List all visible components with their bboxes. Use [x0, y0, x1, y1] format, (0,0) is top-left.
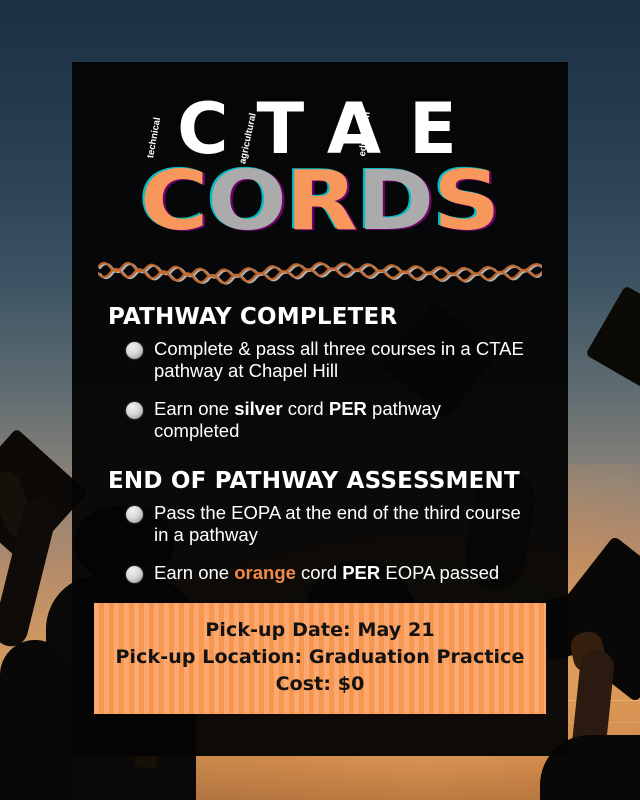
pickup-date-line: Pick-up Date: May 21	[104, 617, 536, 644]
cords-wordmark: CORDS	[140, 164, 499, 240]
bullet-text-post: EOPA passed	[380, 562, 499, 583]
bullet-emphasis-per: PER	[342, 562, 380, 583]
cord-divider-graphic	[98, 256, 542, 290]
cords-letter-c: C	[140, 164, 207, 240]
bullet-emphasis-silver: silver	[234, 398, 282, 419]
poster-title-block: CTAE career technical agricultural educa…	[72, 90, 568, 250]
pickup-info-box: Pick-up Date: May 21 Pick-up Location: G…	[94, 603, 546, 714]
pickup-location-line: Pick-up Location: Graduation Practice	[104, 644, 536, 671]
cords-letter-o: O	[208, 164, 286, 240]
cords-letter-d: D	[357, 164, 433, 240]
bullet-dot-icon	[126, 342, 143, 359]
list-item: Complete & pass all three courses in a C…	[126, 338, 542, 382]
bullet-text: Pass the EOPA at the end of the third co…	[154, 502, 526, 546]
list-item: Earn one orange cord PER EOPA passed	[126, 562, 542, 584]
cost-line: Cost: $0	[104, 671, 536, 698]
bullet-text: Earn one silver cord PER pathway complet…	[154, 398, 526, 442]
cords-letter-s: S	[433, 164, 499, 240]
bullet-text: Earn one orange cord PER EOPA passed	[154, 562, 499, 584]
poster-content: PATHWAY COMPLETER Complete & pass all th…	[72, 304, 568, 584]
bullet-emphasis-per: PER	[329, 398, 367, 419]
bullet-dot-icon	[126, 506, 143, 523]
graduate-body-silhouette	[0, 640, 70, 800]
cords-word-row: CORDS	[72, 164, 568, 240]
bullet-dot-icon	[126, 566, 143, 583]
cords-letter-r: R	[286, 164, 357, 240]
list-item: Pass the EOPA at the end of the third co…	[126, 502, 542, 546]
list-item: Earn one silver cord PER pathway complet…	[126, 398, 542, 442]
bullet-text-mid: cord	[296, 562, 342, 583]
poster-panel: CTAE career technical agricultural educa…	[72, 62, 568, 756]
section-heading-pathway-completer: PATHWAY COMPLETER	[108, 304, 542, 330]
bullet-text-pre: Earn one	[154, 562, 234, 583]
bullet-text-mid: cord	[283, 398, 329, 419]
bullet-text: Complete & pass all three courses in a C…	[154, 338, 526, 382]
braided-cord-divider	[98, 256, 542, 290]
bullet-emphasis-orange: orange	[234, 562, 296, 583]
bullet-dot-icon	[126, 402, 143, 419]
bullet-text-pre: Earn one	[154, 398, 234, 419]
section-heading-end-of-pathway-assessment: END OF PATHWAY ASSESSMENT	[108, 468, 542, 494]
